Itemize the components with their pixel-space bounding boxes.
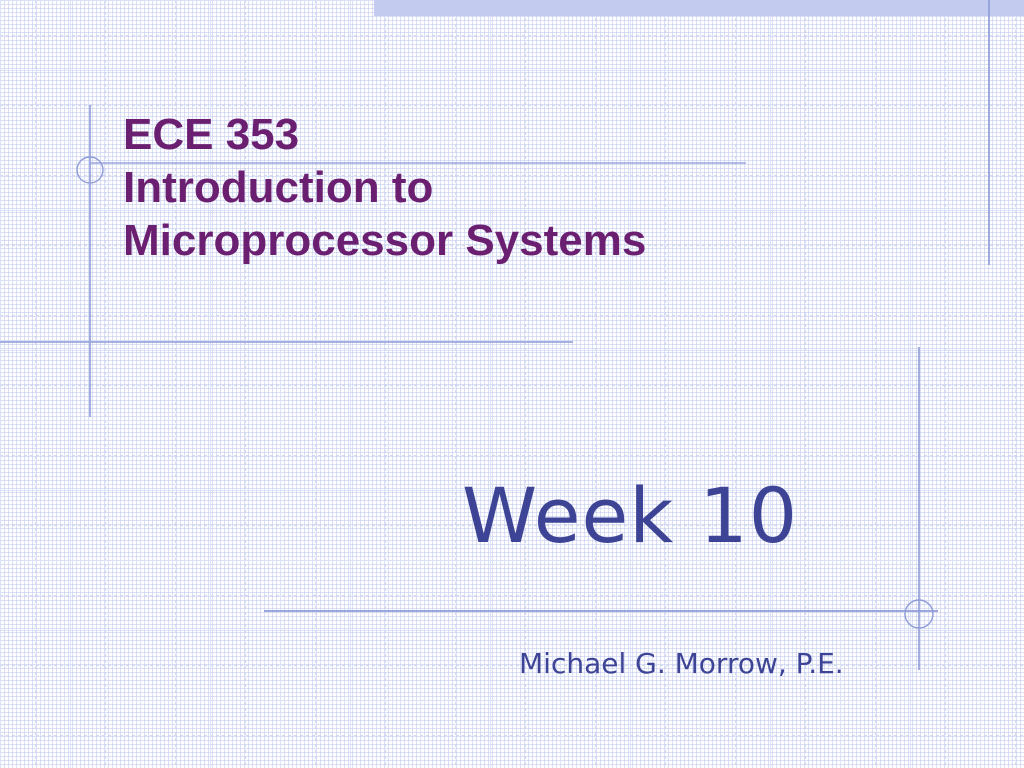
title-line-1: ECE 353 [123,108,923,161]
slide-subtitle: Week 10 [462,474,798,558]
slide-title: ECE 353 Introduction to Microprocessor S… [123,108,923,267]
title-line-2: Introduction to [123,161,923,214]
slide-author: Michael G. Morrow, P.E. [519,647,844,681]
slide-canvas: ECE 353 Introduction to Microprocessor S… [0,0,1024,768]
title-line-3: Microprocessor Systems [123,214,923,267]
